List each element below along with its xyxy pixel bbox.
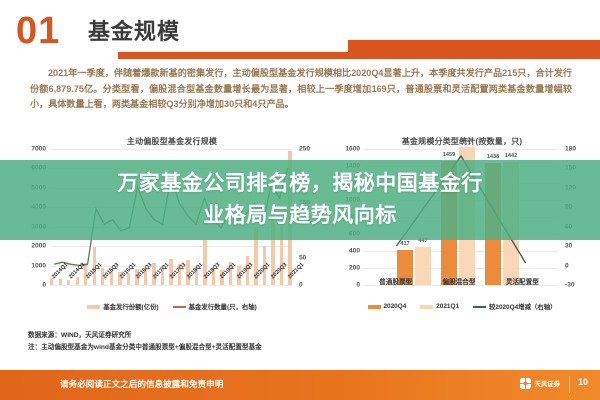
body-paragraph: 2021年一季度，伴随着爆款新基的密集发行，主动偏股型基金发行规模相比2020Q… bbox=[30, 66, 572, 113]
axis-tick: 180 bbox=[565, 146, 576, 153]
legend-item-count: 基金发行数量(只，右轴) bbox=[173, 302, 257, 311]
category-label: 灵活配置型 bbox=[506, 276, 539, 286]
slide-header: 01 基金规模 bbox=[0, 0, 600, 62]
axis-tick: -30 bbox=[565, 282, 575, 289]
axis-tick: 0 bbox=[42, 282, 46, 289]
overlay-line-2: 业格局与趋势风向标 bbox=[117, 200, 483, 232]
axis-tick: 400 bbox=[349, 248, 360, 255]
bar-data-label: 1628 bbox=[461, 138, 473, 144]
axis-tick: 200 bbox=[349, 265, 360, 272]
legend-swatch-2021q1 bbox=[420, 305, 433, 309]
axis-tick: 1000 bbox=[31, 262, 46, 269]
legend-swatch-2020q4 bbox=[368, 305, 381, 309]
legend-left: 基金发行份额(亿份) 基金发行数量(只，右轴) bbox=[22, 302, 322, 311]
footer-disclaimer: 请务必阅读正文之后的信息披露和免责申明 bbox=[60, 378, 223, 390]
logo-label: 天风证券 bbox=[534, 379, 560, 388]
page-number: 10 bbox=[578, 377, 588, 387]
page-title: 基金规模 bbox=[88, 14, 180, 46]
legend-item-delta: 较2020Q4增减（右轴） bbox=[473, 302, 556, 311]
legend-label-delta: 较2020Q4增减（右轴） bbox=[489, 302, 556, 311]
header-bar-low bbox=[118, 52, 600, 59]
axis-tick: 250 bbox=[299, 146, 310, 153]
axis-tick: 1600 bbox=[345, 146, 360, 153]
footer-divider bbox=[569, 376, 570, 393]
category-label: 普通股票型 bbox=[379, 276, 412, 286]
legend-label-2021q1: 2021Q1 bbox=[436, 303, 459, 310]
flower-icon bbox=[520, 378, 531, 389]
note-definition: 注：主动偏股型基金为wind基金分类中普通股票型+偏股混合型+灵活配置型基金 bbox=[28, 342, 448, 354]
legend-swatch-shares bbox=[87, 305, 100, 309]
company-logo: 天风证券 bbox=[520, 378, 560, 389]
slide-footer: 请务必阅读正文之后的信息披露和免责申明 天风证券 10 bbox=[0, 370, 600, 400]
note-source: 数据来源：WIND，天风证券研究所 bbox=[28, 330, 448, 342]
axis-tick: 30 bbox=[565, 243, 572, 250]
legend-label-shares: 基金发行份额(亿份) bbox=[103, 302, 158, 311]
x-axis-labels-right: 普通股票型偏股混合型灵活配置型 bbox=[364, 276, 554, 286]
legend-item-2021q1: 2021Q1 bbox=[420, 302, 459, 311]
category-label: 偏股混合型 bbox=[443, 276, 476, 286]
section-number: 01 bbox=[16, 11, 60, 51]
legend-item-2020q4: 2020Q4 bbox=[368, 302, 407, 311]
legend-swatch-count bbox=[173, 306, 186, 308]
legend-right: 2020Q4 2021Q1 较2020Q4增减（右轴） bbox=[336, 302, 588, 311]
overlay-banner: 万家基金公司排名榜，揭秘中国基金行 业格局与趋势风向标 bbox=[0, 160, 600, 240]
x-axis-labels-left: 2014Q12014Q32015Q12015Q32016Q12016Q32017… bbox=[50, 274, 292, 300]
notes-block: 数据来源：WIND，天风证券研究所 注：主动偏股型基金为wind基金分类中普通股… bbox=[28, 330, 448, 353]
overlay-line-1: 万家基金公司排名榜，揭秘中国基金行 bbox=[117, 168, 483, 200]
axis-tick: 7000 bbox=[31, 146, 46, 153]
legend-label-2020q4: 2020Q4 bbox=[384, 303, 407, 310]
axis-tick: 2000 bbox=[31, 243, 46, 250]
axis-tick: 0 bbox=[565, 262, 569, 269]
slide: 01 基金规模 2021年一季度，伴随着爆款新基的密集发行，主动偏股型基金发行规… bbox=[0, 0, 600, 400]
legend-item-shares: 基金发行份额(亿份) bbox=[87, 302, 158, 311]
legend-swatch-delta bbox=[473, 306, 486, 308]
body-paragraph-text: 2021年一季度，伴随着爆款新基的密集发行，主动偏股型基金发行规模相比2020Q… bbox=[30, 68, 572, 109]
legend-label-count: 基金发行数量(只，右轴) bbox=[189, 302, 257, 311]
axis-tick: 50 bbox=[299, 254, 306, 261]
chart-title-left: 主动偏股型基金发行规模 bbox=[22, 136, 322, 147]
axis-tick: 0 bbox=[356, 282, 360, 289]
overlay-text: 万家基金公司排名榜，揭秘中国基金行 业格局与趋势风向标 bbox=[117, 168, 483, 232]
axis-tick: 0 bbox=[299, 282, 303, 289]
